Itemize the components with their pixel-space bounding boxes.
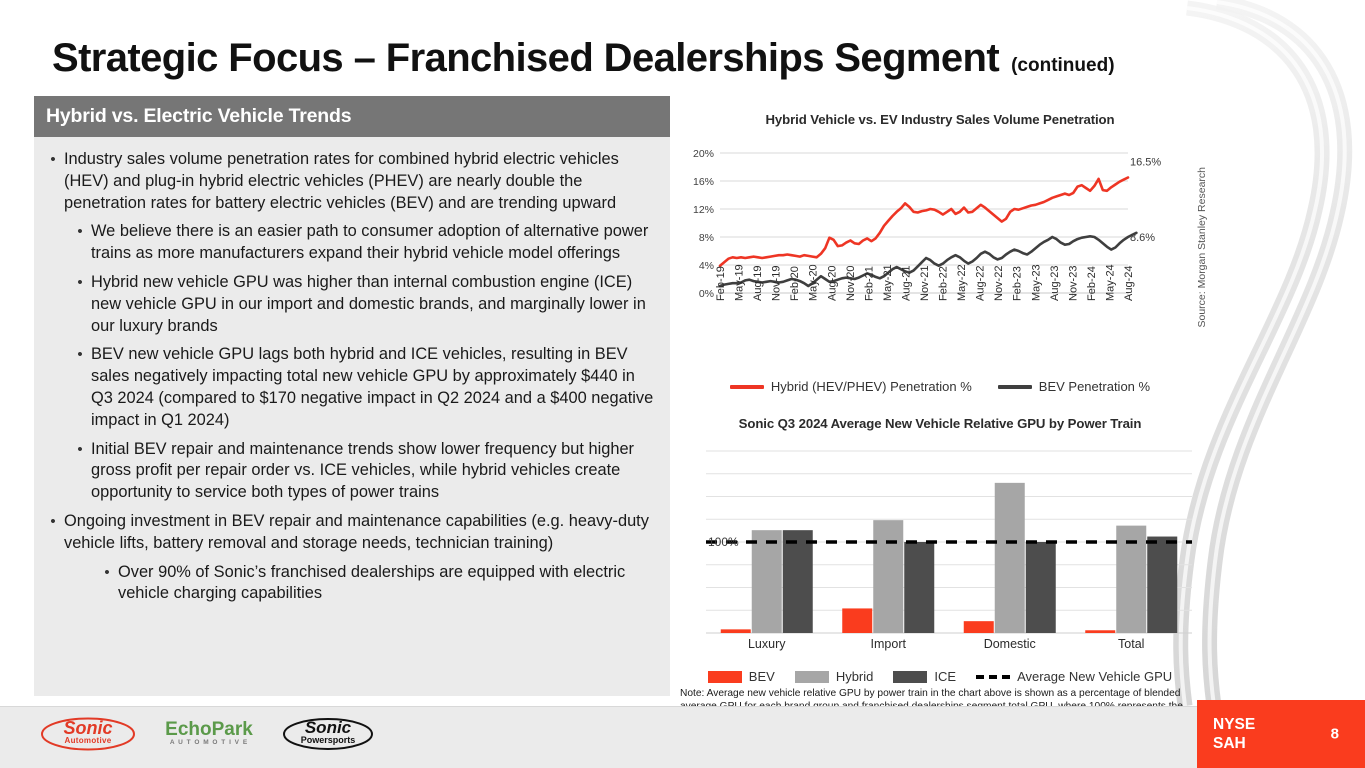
bar-ice-total <box>1147 537 1177 633</box>
x-tick-label: Feb-22 <box>938 266 950 301</box>
bullet-text: Hybrid new vehicle GPU was higher than i… <box>91 272 656 337</box>
x-tick-label: Nov-21 <box>919 266 931 301</box>
bar-bev-domestic <box>964 621 994 633</box>
y-tick-label: 12% <box>693 204 714 216</box>
bullet-text: Initial BEV repair and maintenance trend… <box>91 439 656 504</box>
y-tick-label: 0% <box>699 288 714 300</box>
bev-end-label: 8.6% <box>1130 232 1155 244</box>
bar-bev-luxury <box>721 629 751 633</box>
panel-header: Hybrid vs. Electric Vehicle Trends <box>34 96 670 137</box>
logo-sonic-powersports-line2: Powersports <box>282 735 374 745</box>
x-tick-label: Nov-23 <box>1067 266 1079 301</box>
x-tick-label: Aug-23 <box>1049 266 1061 301</box>
exchange-label: NYSE <box>1213 715 1255 734</box>
bar-category-label: Domestic <box>984 637 1036 651</box>
nyse-ticker-badge: NYSE SAH 8 <box>1197 700 1365 768</box>
x-tick-label: May-22 <box>956 264 968 301</box>
legend-item-bev-bar: BEV <box>708 669 775 684</box>
legend-item-hybrid-bar: Hybrid <box>795 669 874 684</box>
page-title-continued: (continued) <box>1011 55 1114 77</box>
x-tick-label: Aug-20 <box>826 266 838 301</box>
bar-chart-title: Sonic Q3 2024 Average New Vehicle Relati… <box>680 416 1200 431</box>
legend-line-bev <box>998 385 1032 389</box>
x-tick-label: May-24 <box>1104 264 1116 301</box>
logo-sonic-automotive: Sonic Automotive <box>40 717 136 751</box>
legend-label-bev-bar: BEV <box>749 669 775 684</box>
line-chart-svg: 0%4%8%12%16%20%16.5%8.6%Feb-19May-19Aug-… <box>680 127 1200 377</box>
y-tick-label: 20% <box>693 148 714 160</box>
bar-hybrid-import <box>873 520 903 633</box>
legend-label-hybrid-bar: Hybrid <box>836 669 874 684</box>
bullet-text: Over 90% of Sonic’s franchised dealershi… <box>118 562 656 606</box>
x-tick-label: Aug-24 <box>1123 266 1135 301</box>
x-tick-label: Feb-19 <box>715 266 727 301</box>
bar-bev-import <box>842 608 872 633</box>
bar-chart: LuxuryImportDomesticTotal100% <box>680 437 1200 669</box>
bullet-marker-icon: • <box>69 272 91 337</box>
hybrid-penetration-line <box>720 178 1128 266</box>
logo-echopark-line2: A U T O M O T I V E <box>160 739 258 746</box>
hybrid-end-label: 16.5% <box>1130 157 1161 169</box>
x-tick-label: Feb-24 <box>1086 266 1098 301</box>
footer-logos: Sonic Automotive EchoPark A U T O M O T … <box>40 717 374 751</box>
legend-dash-avg-gpu <box>976 675 1010 679</box>
x-tick-label: Aug-21 <box>900 266 912 301</box>
x-tick-label: Feb-20 <box>789 266 801 301</box>
bullet-marker-icon: • <box>69 221 91 265</box>
line-chart-title: Hybrid Vehicle vs. EV Industry Sales Vol… <box>680 112 1200 127</box>
slide-title-row: Strategic Focus – Franchised Dealerships… <box>52 36 1275 94</box>
legend-item-ice-bar: ICE <box>893 669 956 684</box>
logo-echopark-line1: EchoPark <box>160 719 258 741</box>
legend-swatch-hybrid <box>795 671 829 683</box>
bar-chart-svg: LuxuryImportDomesticTotal100% <box>680 437 1200 669</box>
x-tick-label: Feb-21 <box>863 266 875 301</box>
y-tick-label: 16% <box>693 176 714 188</box>
legend-swatch-ice <box>893 671 927 683</box>
bar-ice-luxury <box>783 530 813 633</box>
charts-area: Hybrid Vehicle vs. EV Industry Sales Vol… <box>680 112 1200 702</box>
x-tick-label: May-21 <box>882 264 894 301</box>
legend-item-hybrid: Hybrid (HEV/PHEV) Penetration % <box>730 379 972 394</box>
bullet-text: BEV new vehicle GPU lags both hybrid and… <box>91 344 656 431</box>
bar-hybrid-luxury <box>752 530 782 633</box>
x-tick-label: Feb-23 <box>1012 266 1024 301</box>
bullet-item: •BEV new vehicle GPU lags both hybrid an… <box>69 344 656 431</box>
footer-divider <box>0 706 1365 707</box>
bullet-list: •Industry sales volume penetration rates… <box>34 137 670 620</box>
bullet-item: •We believe there is an easier path to c… <box>69 221 656 265</box>
bar-category-label: Import <box>871 637 907 651</box>
logo-sonic-automotive-line2: Automotive <box>40 736 136 745</box>
bullet-marker-icon: • <box>42 511 64 555</box>
bar-chart-legend: BEV Hybrid ICE Average New Vehicle GPU <box>680 669 1200 684</box>
legend-label-ice-bar: ICE <box>934 669 956 684</box>
bar-ice-domestic <box>1026 542 1056 633</box>
legend-item-avg-gpu: Average New Vehicle GPU <box>976 669 1172 684</box>
legend-item-bev: BEV Penetration % <box>998 379 1150 394</box>
ticker-symbol: SAH <box>1213 734 1255 753</box>
legend-label-avg-gpu: Average New Vehicle GPU <box>1017 669 1172 684</box>
legend-label-bev: BEV Penetration % <box>1039 379 1150 394</box>
x-tick-label: Nov-22 <box>993 266 1005 301</box>
bullet-text: Industry sales volume penetration rates … <box>64 149 656 214</box>
bullet-text: Ongoing investment in BEV repair and mai… <box>64 511 656 555</box>
y-tick-label: 4% <box>699 260 714 272</box>
line-chart-legend: Hybrid (HEV/PHEV) Penetration % BEV Pene… <box>680 379 1200 394</box>
reference-line-label: 100% <box>708 535 739 549</box>
page-number: 8 <box>1331 726 1339 743</box>
bullet-item: •Over 90% of Sonic’s franchised dealersh… <box>96 562 656 606</box>
source-label: Source: Morgan Stanley Research <box>1196 167 1208 328</box>
x-tick-label: May-23 <box>1030 264 1042 301</box>
bar-hybrid-domestic <box>995 483 1025 633</box>
line-chart: 0%4%8%12%16%20%16.5%8.6%Feb-19May-19Aug-… <box>680 127 1200 377</box>
bullet-marker-icon: • <box>42 149 64 214</box>
bar-bev-total <box>1085 630 1115 633</box>
x-tick-label: Aug-19 <box>752 266 764 301</box>
bullet-marker-icon: • <box>69 439 91 504</box>
page-title: Strategic Focus – Franchised Dealerships… <box>52 36 999 81</box>
bullet-item: •Ongoing investment in BEV repair and ma… <box>42 511 656 555</box>
hybrid-ev-trends-panel: Hybrid vs. Electric Vehicle Trends •Indu… <box>34 96 670 696</box>
x-tick-label: Nov-19 <box>771 266 783 301</box>
legend-swatch-bev <box>708 671 742 683</box>
bar-ice-import <box>904 542 934 633</box>
bar-category-label: Total <box>1118 637 1144 651</box>
x-tick-label: Nov-20 <box>845 266 857 301</box>
bullet-marker-icon: • <box>96 562 118 606</box>
bullet-marker-icon: • <box>69 344 91 431</box>
slide-footer: Sonic Automotive EchoPark A U T O M O T … <box>0 706 1365 768</box>
legend-line-hybrid <box>730 385 764 389</box>
bullet-item: •Industry sales volume penetration rates… <box>42 149 656 214</box>
ticker-block: NYSE SAH <box>1213 715 1255 753</box>
x-tick-label: May-19 <box>734 264 746 301</box>
bullet-item: •Initial BEV repair and maintenance tren… <box>69 439 656 504</box>
y-tick-label: 8% <box>699 232 714 244</box>
legend-label-hybrid: Hybrid (HEV/PHEV) Penetration % <box>771 379 972 394</box>
x-tick-label: May-20 <box>808 264 820 301</box>
x-tick-label: Aug-22 <box>975 266 987 301</box>
bar-category-label: Luxury <box>748 637 786 651</box>
bullet-item: •Hybrid new vehicle GPU was higher than … <box>69 272 656 337</box>
logo-echopark: EchoPark A U T O M O T I V E <box>160 717 258 751</box>
bullet-text: We believe there is an easier path to co… <box>91 221 656 265</box>
logo-sonic-powersports: Sonic Powersports <box>282 717 374 751</box>
